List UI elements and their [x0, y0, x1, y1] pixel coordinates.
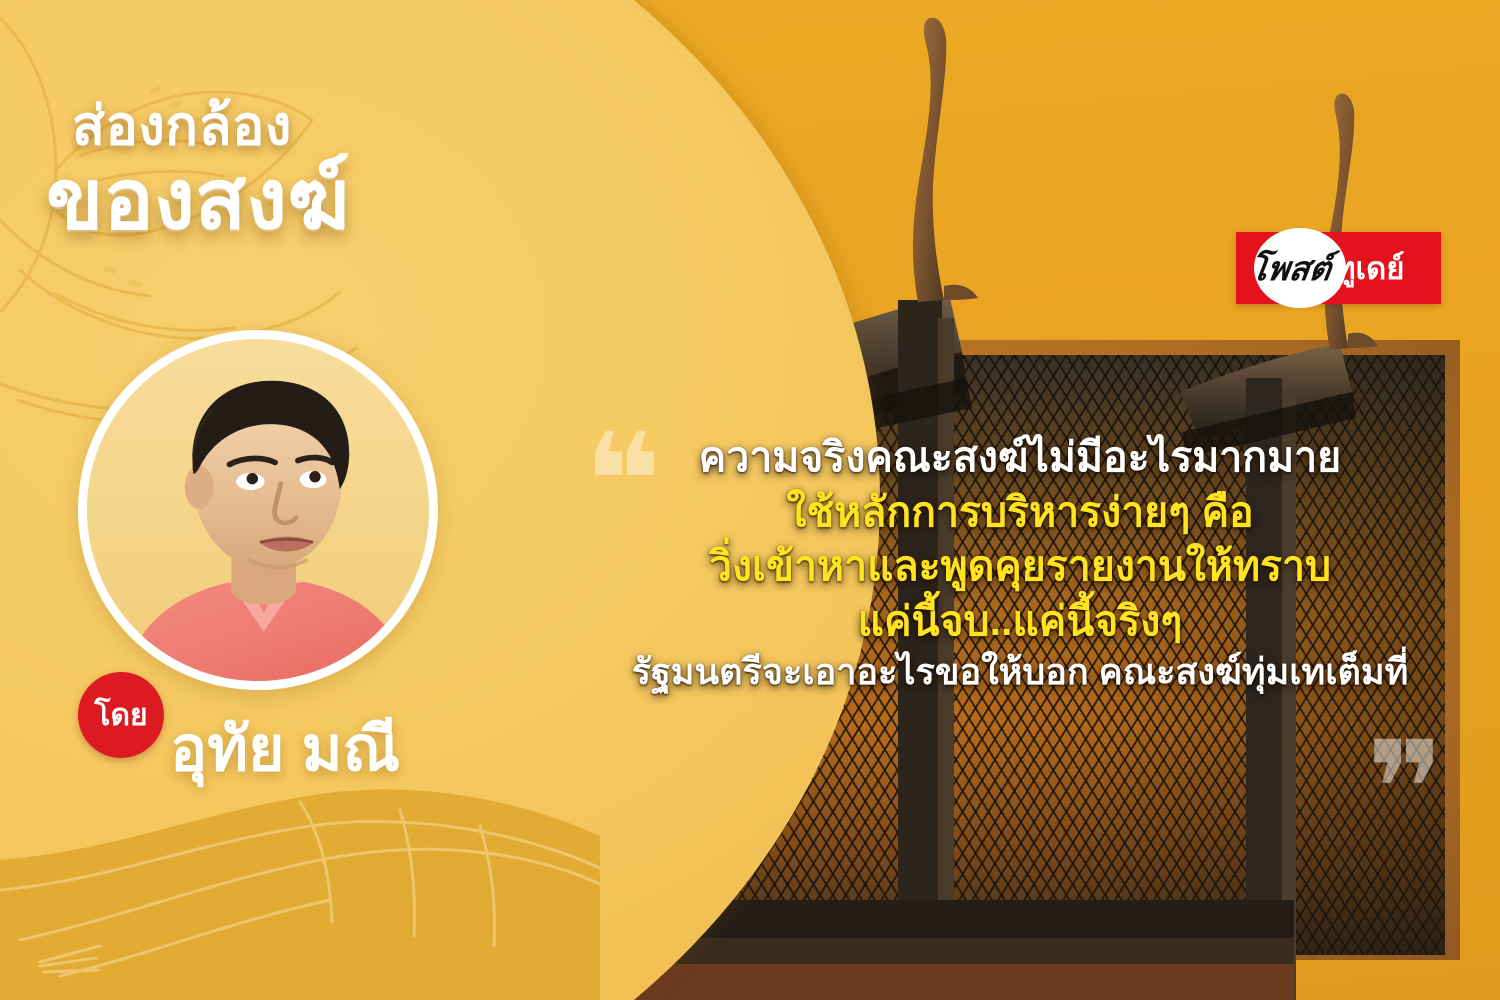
quote-block: ❝ ความจริงคณะสงฆ์ไม่มีอะไรมากมาย ใช้หลัก… [580, 430, 1460, 696]
quote-card: ส่องกล้อง ของสงฆ์ [0, 0, 1500, 1000]
byline-prefix: โดย [94, 692, 147, 739]
logo-script-text: โพสต์ [1246, 242, 1335, 295]
title-line-1: ส่องกล้อง [72, 98, 516, 155]
title-line-2: ของสงฆ์ [46, 157, 516, 241]
quote-line-2: ใช้หลักการบริหารง่ายๆ คือ [580, 485, 1460, 540]
quote-line-3: วิ่งเข้าหาและพูดคุยรายงานให้ทราบ [580, 539, 1460, 594]
quote-line-5: รัฐมนตรีจะเอาอะไรขอให้บอก คณะสงฆ์ทุ่มเทเ… [580, 648, 1460, 696]
byline-badge: โดย [78, 672, 164, 758]
avatar [78, 330, 438, 690]
logo-today-text: ทูเดย์ [1335, 243, 1404, 293]
page-title: ส่องกล้อง ของสงฆ์ [46, 98, 516, 241]
portrait-illustration [87, 339, 429, 681]
post-today-logo[interactable]: โพสต์ ทูเดย์ [1236, 232, 1441, 304]
author-name: อุทัย มณี [170, 700, 400, 798]
quote-line-4: แค่นี้จบ..แค่นี้จริงๆ [580, 594, 1460, 649]
quote-line-1: ความจริงคณะสงฆ์ไม่มีอะไรมากมาย [580, 430, 1460, 485]
